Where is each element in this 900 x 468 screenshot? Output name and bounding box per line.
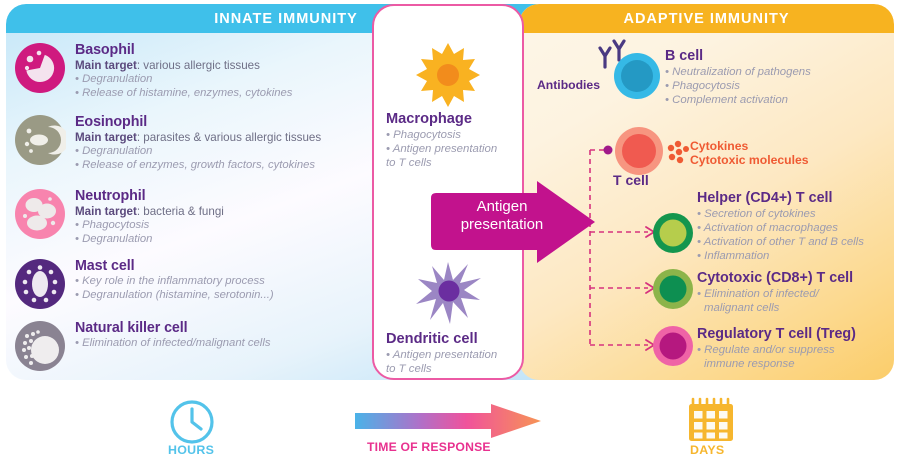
bullet: • Release of histamine, enzymes, cytokin… <box>75 87 292 101</box>
eosinophil-target-value: : parasites & various allergic tissues <box>137 131 321 144</box>
bullet: • Activation of other T and B cells <box>697 235 864 249</box>
mast-cell-text: Mast cell • Key role in the inflammatory… <box>75 258 274 302</box>
b-cell-name: B cell <box>665 48 811 65</box>
macrophage-name: Macrophage <box>372 110 524 128</box>
mast-cell-name: Mast cell <box>75 258 274 275</box>
innate-cell-neutrophil: Neutrophil Main target: bacteria & fungi… <box>14 188 224 246</box>
dendritic-cell-name: Dendritic cell <box>372 330 524 348</box>
bullet: • Secretion of cytokines <box>697 207 864 221</box>
natural-killer-bullets: • Elimination of infected/malignant cell… <box>75 337 270 351</box>
basophil-icon <box>14 42 66 99</box>
t-cell-secretions: Cytokines Cytotoxic molecules <box>690 139 809 168</box>
basophil-main-target: Main target: various allergic tissues <box>75 59 292 73</box>
mast-cell-icon <box>14 258 66 315</box>
mast-cell-bullets: • Key role in the inflammatory process •… <box>75 275 274 302</box>
antigen-arrow-label: Antigen presentation <box>443 198 561 234</box>
days-label: DAYS <box>690 443 725 457</box>
macrophage-icon <box>372 42 524 108</box>
eosinophil-main-target: Main target: parasites & various allergi… <box>75 131 321 145</box>
antigen-arrow-line2: presentation <box>461 216 544 233</box>
cytotoxic-t-cell-name: Cytotoxic (CD8+) T cell <box>697 270 853 287</box>
bullet: • Phagocytosis <box>665 79 811 93</box>
bullet: • Elimination of infected/malignant cell… <box>75 337 270 351</box>
bullet: • Activation of macrophages <box>697 221 864 235</box>
basophil-name: Basophil <box>75 42 292 59</box>
secretion-cytotoxic-molecules: Cytotoxic molecules <box>690 153 809 167</box>
dendritic-cell-icon <box>372 258 524 328</box>
innate-cell-eosinophil: Eosinophil Main target: parasites & vari… <box>14 114 321 172</box>
basophil-text: Basophil Main target: various allergic t… <box>75 42 292 100</box>
antigen-arrow-line1: Antigen <box>477 198 528 215</box>
adaptive-immunity-header: ADAPTIVE IMMUNITY <box>519 4 894 33</box>
innate-header-label: INNATE IMMUNITY <box>214 11 358 27</box>
clock-icon <box>168 398 216 446</box>
neutrophil-main-target: Main target: bacteria & fungi <box>75 205 224 219</box>
helper-t-cell-icon <box>652 212 694 259</box>
neutrophil-target-label: Main target <box>75 205 137 218</box>
b-cell-text: B cell • Neutralization of pathogens • P… <box>665 48 811 107</box>
bullet: • Phagocytosis <box>75 219 224 233</box>
bullet: • Antigen presentation <box>372 348 524 362</box>
regulatory-t-cell-icon <box>652 325 694 372</box>
helper-t-cell-text: Helper (CD4+) T cell • Secretion of cyto… <box>697 190 864 263</box>
bullet: malignant cells <box>697 301 853 315</box>
bullet: • Degranulation (histamine, serotonin...… <box>75 289 274 303</box>
neutrophil-bullets: • Phagocytosis • Degranulation <box>75 219 224 246</box>
bridge-cell-dendritic: Dendritic cell • Antigen presentation to… <box>372 258 524 376</box>
eosinophil-text: Eosinophil Main target: parasites & vari… <box>75 114 321 172</box>
natural-killer-name: Natural killer cell <box>75 320 270 337</box>
neutrophil-target-value: : bacteria & fungi <box>137 205 224 218</box>
immunity-diagram: INNATE IMMUNITY Basophil Main target: va… <box>0 0 900 468</box>
time-of-response-label: TIME OF RESPONSE <box>367 440 491 454</box>
helper-t-cell-name: Helper (CD4+) T cell <box>697 190 864 207</box>
cytotoxic-t-cell-text: Cytotoxic (CD8+) T cell • Elimination of… <box>697 270 853 315</box>
eosinophil-name: Eosinophil <box>75 114 321 131</box>
bridge-cell-macrophage: Macrophage • Phagocytosis • Antigen pres… <box>372 42 524 170</box>
t-cell-label: T cell <box>613 172 649 188</box>
basophil-target-label: Main target <box>75 59 137 72</box>
bullet: to T cells <box>372 156 524 170</box>
neutrophil-text: Neutrophil Main target: bacteria & fungi… <box>75 188 224 246</box>
basophil-bullets: • Degranulation • Release of histamine, … <box>75 73 292 100</box>
eosinophil-target-label: Main target <box>75 131 137 144</box>
antigen-presentation-arrow: Antigen presentation <box>425 180 597 264</box>
connector-dot <box>604 146 613 155</box>
bullet: • Degranulation <box>75 233 224 247</box>
bullet: • Antigen presentation <box>372 142 524 156</box>
bullet: • Key role in the inflammatory process <box>75 275 274 289</box>
bullet: • Neutralization of pathogens <box>665 65 811 79</box>
bullet: • Phagocytosis <box>372 128 524 142</box>
bullet: • Regulate and/or suppress <box>697 343 856 357</box>
bullet: • Inflammation <box>697 249 864 263</box>
natural-killer-text: Natural killer cell • Elimination of inf… <box>75 320 270 351</box>
cytotoxic-t-cell-icon <box>652 268 694 315</box>
innate-cell-basophil: Basophil Main target: various allergic t… <box>14 42 292 100</box>
neutrophil-name: Neutrophil <box>75 188 224 205</box>
neutrophil-icon <box>14 188 66 245</box>
timeline-section: HOURS DAYS TIME OF RESPONSE <box>0 384 900 468</box>
b-cell-icon <box>613 52 661 105</box>
basophil-target-value: : various allergic tissues <box>137 59 260 72</box>
hours-label: HOURS <box>168 443 214 457</box>
eosinophil-bullets: • Degranulation • Release of enzymes, gr… <box>75 145 321 172</box>
time-of-response-arrow-icon <box>355 404 545 440</box>
innate-cell-natural-killer: Natural killer cell • Elimination of inf… <box>14 320 270 377</box>
bullet: • Complement activation <box>665 93 811 107</box>
bullet: immune response <box>697 357 856 371</box>
bullet: • Elimination of infected/ <box>697 287 853 301</box>
secretion-cytokines: Cytokines <box>690 139 809 153</box>
antibodies-label: Antibodies <box>537 78 600 92</box>
eosinophil-icon <box>14 114 66 171</box>
bullet: • Degranulation <box>75 145 321 159</box>
innate-cell-mast-cell: Mast cell • Key role in the inflammatory… <box>14 258 274 315</box>
bullet: • Release of enzymes, growth factors, cy… <box>75 159 321 173</box>
bullet: to T cells <box>372 362 524 376</box>
adaptive-header-label: ADAPTIVE IMMUNITY <box>623 11 789 27</box>
bullet: • Degranulation <box>75 73 292 87</box>
natural-killer-cell-icon <box>14 320 66 377</box>
regulatory-t-cell-text: Regulatory T cell (Treg) • Regulate and/… <box>697 326 856 371</box>
calendar-icon <box>685 396 737 446</box>
regulatory-t-cell-name: Regulatory T cell (Treg) <box>697 326 856 343</box>
